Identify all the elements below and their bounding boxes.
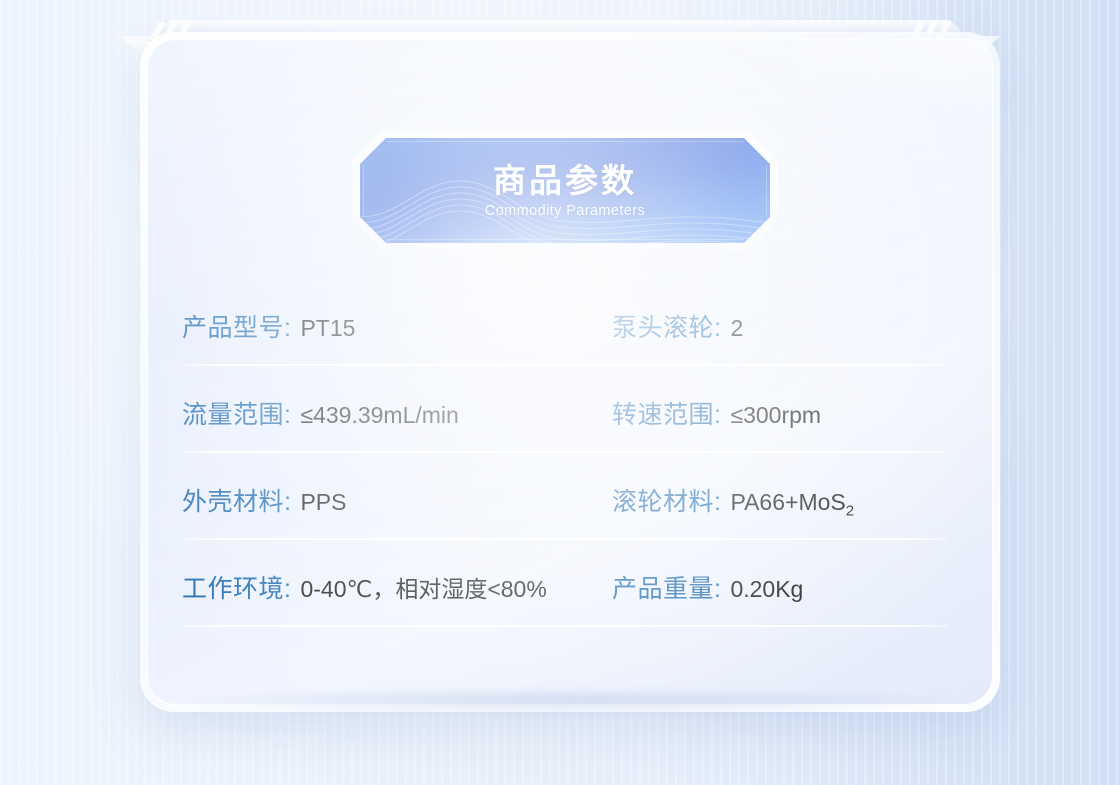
banner-body: 商品参数 Commodity Parameters bbox=[360, 138, 770, 243]
param-value: ≤300rpm bbox=[730, 402, 821, 429]
param-label: 转速范围: bbox=[612, 395, 721, 431]
param-cell: 转速范围: ≤300rpm bbox=[612, 395, 948, 431]
param-value: PT15 bbox=[300, 315, 355, 342]
banner-title: 商品参数 bbox=[493, 162, 637, 200]
param-cell: 工作环境: 0-40℃，相对湿度<80% bbox=[182, 569, 612, 605]
param-value: 2 bbox=[730, 315, 743, 342]
param-value-main: PA66+MoS bbox=[730, 489, 845, 515]
parameters-table: 产品型号: PT15 泵头滚轮: 2 流量范围: ≤439.39mL/min 转… bbox=[182, 308, 948, 656]
product-parameters-page: 商品参数 Commodity Parameters 产品型号: PT15 泵头滚… bbox=[0, 0, 1120, 785]
param-value-subscript: 2 bbox=[846, 503, 854, 520]
param-label: 产品重量: bbox=[612, 569, 721, 605]
param-cell: 外壳材料: PPS bbox=[182, 482, 612, 518]
banner-subtitle: Commodity Parameters bbox=[485, 203, 645, 219]
param-value: 0-40℃，相对湿度<80% bbox=[300, 570, 546, 604]
param-label: 泵头滚轮: bbox=[612, 308, 721, 344]
param-cell: 产品型号: PT15 bbox=[182, 308, 612, 344]
param-cell: 产品重量: 0.20Kg bbox=[612, 569, 948, 605]
table-row: 工作环境: 0-40℃，相对湿度<80% 产品重量: 0.20Kg bbox=[182, 569, 948, 656]
param-value: 0.20Kg bbox=[730, 576, 803, 603]
table-row: 产品型号: PT15 泵头滚轮: 2 bbox=[182, 308, 948, 395]
param-value: ≤439.39mL/min bbox=[300, 402, 458, 429]
param-label: 流量范围: bbox=[182, 395, 291, 431]
table-row: 流量范围: ≤439.39mL/min 转速范围: ≤300rpm bbox=[182, 395, 948, 482]
param-label: 产品型号: bbox=[182, 308, 291, 344]
param-label: 工作环境: bbox=[182, 569, 291, 605]
card-drop-shadow bbox=[175, 690, 965, 716]
param-value: PA66+MoS2 bbox=[730, 489, 854, 520]
param-cell: 滚轮材料: PA66+MoS2 bbox=[612, 482, 948, 520]
param-cell: 流量范围: ≤439.39mL/min bbox=[182, 395, 612, 431]
card-corner-glint bbox=[791, 40, 992, 168]
param-value: PPS bbox=[300, 489, 346, 516]
banner-text-block: 商品参数 Commodity Parameters bbox=[360, 138, 770, 243]
table-row: 外壳材料: PPS 滚轮材料: PA66+MoS2 bbox=[182, 482, 948, 569]
param-cell: 泵头滚轮: 2 bbox=[612, 308, 948, 344]
param-label: 滚轮材料: bbox=[612, 482, 721, 518]
param-label: 外壳材料: bbox=[182, 482, 291, 518]
section-title-banner: 商品参数 Commodity Parameters bbox=[360, 138, 770, 243]
